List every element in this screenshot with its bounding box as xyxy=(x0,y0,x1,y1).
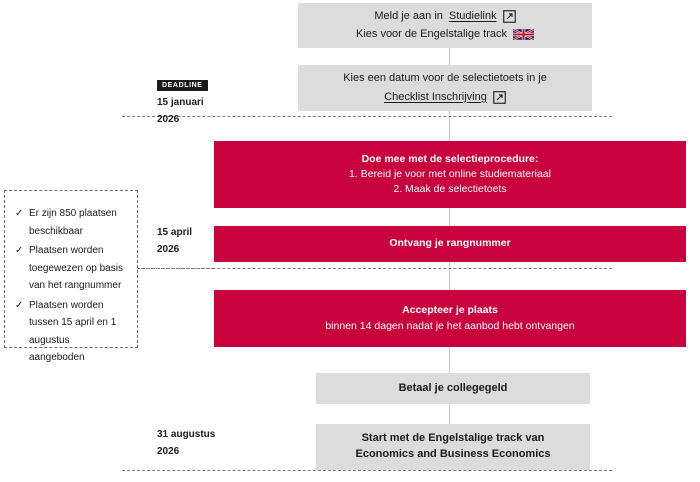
step-box-studielink[interactable]: Meld je aan in Studielink Kies voor de E… xyxy=(298,3,592,48)
engelstalige-track-row: Kies voor de Engelstalige track xyxy=(356,27,534,43)
start-track-line-1: Start met de Engelstalige track van xyxy=(362,431,545,447)
connector-line-6 xyxy=(449,404,450,424)
timeline-canvas: Meld je aan in Studielink Kies voor de E… xyxy=(0,0,700,482)
external-link-icon[interactable] xyxy=(503,10,516,23)
selectieprocedure-item-1: 1. Bereid je voor met online studiemater… xyxy=(349,167,551,182)
info-list-item-label: Plaatsen worden tussen 15 april en 1 aug… xyxy=(29,300,116,364)
deadline-15-januari: DEADLINE 15 januari 2026 xyxy=(157,74,208,128)
step-box-accepteer-plaats[interactable]: Accepteer je plaats binnen 14 dagen nada… xyxy=(214,290,686,347)
step-box-selectietoets-datum[interactable]: Kies een datum voor de selectietoets in … xyxy=(298,65,592,111)
step-box-collegegeld[interactable]: Betaal je collegegeld xyxy=(316,373,590,404)
studielink-prefix: Meld je aan in xyxy=(374,9,443,25)
accepteer-plaats-title: Accepteer je plaats xyxy=(402,303,498,318)
connector-line-5 xyxy=(449,347,450,373)
checklist-inschrijving-row: Checklist Inschrijving xyxy=(384,90,506,106)
rangnummer-label: Ontvang je rangnummer xyxy=(389,236,510,251)
deadline-year: 2026 xyxy=(157,444,215,461)
selectietoets-datum-label: Kies een datum voor de selectietoets in … xyxy=(343,71,547,87)
selectieprocedure-item-2: 2. Maak de selectietoets xyxy=(393,182,506,197)
step-box-rangnummer[interactable]: Ontvang je rangnummer xyxy=(214,226,686,262)
connector-line-1 xyxy=(449,47,450,65)
accepteer-plaats-sub: binnen 14 dagen nadat je het aanbod hebt… xyxy=(325,319,574,334)
info-panel-plaatsen: ✓ Er zijn 850 plaatsen beschikbaar ✓ Pla… xyxy=(4,190,138,348)
info-list-item: ✓ Plaatsen worden toegewezen op basis va… xyxy=(15,242,127,295)
info-list-item-label: Er zijn 850 plaatsen beschikbaar xyxy=(29,208,117,237)
deadline-date: 15 januari xyxy=(157,95,208,112)
check-icon: ✓ xyxy=(15,205,23,223)
start-track-line-2: Economics and Business Economics xyxy=(355,447,550,463)
studielink-link[interactable]: Studielink xyxy=(449,9,497,25)
deadline-rule-augustus xyxy=(122,470,612,471)
info-list-item: ✓ Plaatsen worden tussen 15 april en 1 a… xyxy=(15,297,127,367)
uk-flag-icon xyxy=(513,27,534,42)
step-box-selectieprocedure[interactable]: Doe mee met de selectieprocedure: 1. Ber… xyxy=(214,141,686,208)
check-icon: ✓ xyxy=(15,297,23,315)
connector-line-4 xyxy=(449,262,450,290)
info-list-item-label: Plaatsen worden toegewezen op basis van … xyxy=(29,245,123,291)
info-list: ✓ Er zijn 850 plaatsen beschikbaar ✓ Pla… xyxy=(15,205,127,367)
deadline-date: 31 augustus xyxy=(157,427,215,444)
external-link-icon[interactable] xyxy=(493,91,506,104)
checklist-inschrijving-link[interactable]: Checklist Inschrijving xyxy=(384,90,487,106)
deadline-badge: DEADLINE xyxy=(157,80,208,91)
deadline-date: 15 april xyxy=(157,225,192,242)
collegegeld-label: Betaal je collegegeld xyxy=(399,381,508,397)
deadline-year: 2026 xyxy=(157,242,192,259)
check-icon: ✓ xyxy=(15,242,23,260)
selectieprocedure-title: Doe mee met de selectieprocedure: xyxy=(362,152,539,167)
step-box-start-track[interactable]: Start met de Engelstalige track van Econ… xyxy=(316,424,590,470)
deadline-15-april: 15 april 2026 xyxy=(157,225,192,258)
info-panel-connector xyxy=(136,268,214,269)
studielink-row: Meld je aan in Studielink xyxy=(374,9,515,25)
info-list-item: ✓ Er zijn 850 plaatsen beschikbaar xyxy=(15,205,127,240)
connector-line-3 xyxy=(449,208,450,226)
engelstalige-track-label: Kies voor de Engelstalige track xyxy=(356,27,507,43)
deadline-31-augustus: 31 augustus 2026 xyxy=(157,427,215,460)
deadline-year: 2026 xyxy=(157,112,208,129)
